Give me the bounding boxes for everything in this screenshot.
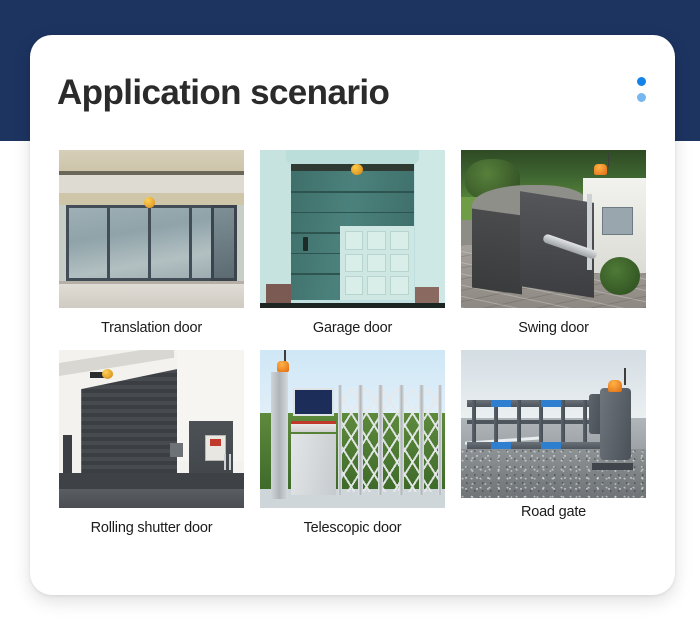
page-title: Application scenario (57, 73, 389, 113)
scenario-cell-translation-door[interactable]: Translation door (59, 150, 244, 336)
page-root: Application scenario (0, 0, 700, 641)
scenario-cell-garage-door[interactable]: Garage door (260, 150, 445, 336)
scenario-caption-road-gate: Road gate (521, 504, 586, 520)
scenario-cell-telescopic-door[interactable]: Telescopic door (260, 350, 445, 536)
scenario-row-1: Translation door (59, 150, 646, 336)
scenario-cell-swing-door[interactable]: Swing door (461, 150, 646, 336)
garage-door-photo[interactable] (260, 150, 445, 308)
warning-lamp-icon (608, 380, 622, 392)
warning-lamp-icon (594, 164, 607, 175)
content-card: Application scenario (30, 35, 675, 595)
scenario-row-2: Rolling shutter door (59, 350, 646, 536)
sliding-glass-door-photo[interactable] (59, 150, 244, 308)
scenario-caption-telescopic-door: Telescopic door (304, 520, 402, 536)
scenario-caption-swing-door: Swing door (518, 320, 589, 336)
scenario-cell-road-gate[interactable]: Road gate (461, 350, 646, 520)
warning-lamp-icon (102, 369, 113, 379)
scenario-caption-garage-door: Garage door (313, 320, 392, 336)
warning-lamp-icon (351, 164, 363, 175)
scenario-caption-translation-door: Translation door (101, 320, 202, 336)
road-barrier-gate-photo[interactable] (461, 350, 646, 498)
warning-lamp-icon (277, 361, 289, 372)
telescopic-gate-photo[interactable] (260, 350, 445, 508)
pager-dots[interactable] (637, 77, 646, 102)
swing-gate-door-photo[interactable] (461, 150, 646, 308)
scenario-caption-rolling-shutter-door: Rolling shutter door (91, 520, 213, 536)
pager-dot-2[interactable] (637, 93, 646, 102)
scenario-cell-rolling-shutter-door[interactable]: Rolling shutter door (59, 350, 244, 536)
pager-dot-1[interactable] (637, 77, 646, 86)
rolling-shutter-door-photo[interactable] (59, 350, 244, 508)
scenario-grid: Translation door (59, 150, 646, 536)
